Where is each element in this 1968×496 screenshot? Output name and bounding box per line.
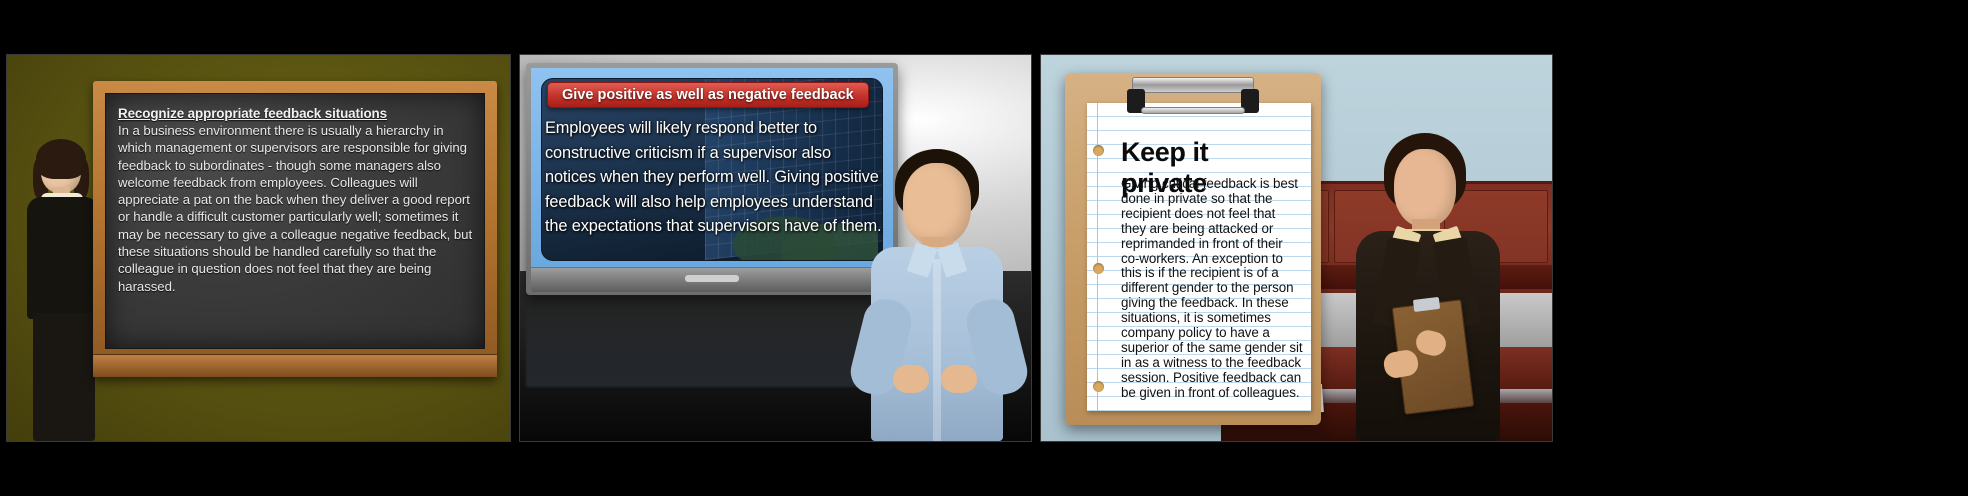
panel-clipboard-scene[interactable]: Keep it private Giving critical feedback…: [1040, 54, 1553, 442]
slide-body-text: Employees will likely respond better to …: [545, 116, 883, 239]
television-unit: Give positive as well as negative feedba…: [526, 63, 898, 295]
television-logo-bar: [685, 275, 739, 282]
chalkboard-surface: Recognize appropriate feedback situation…: [105, 93, 485, 349]
businesswoman-figure: [1340, 135, 1516, 441]
clipboard-metal-clamp-icon: [1132, 77, 1254, 93]
punch-hole-icon: [1093, 145, 1104, 156]
slide-banner: Give positive as well as negative feedba…: [547, 82, 869, 108]
teacher-hair: [36, 139, 86, 179]
floor-reflection: [526, 299, 898, 387]
chalkboard-frame: Recognize appropriate feedback situation…: [93, 81, 497, 377]
presenter-head: [903, 163, 971, 245]
presenter-figure: [849, 149, 1025, 441]
chalkboard-title: Recognize appropriate feedback situation…: [118, 106, 474, 121]
television-bezel: [531, 268, 893, 292]
presenter-hand-right: [941, 365, 977, 393]
teacher-jacket: [27, 197, 99, 319]
clipboard-body-text: Giving critical feedback is best done in…: [1121, 177, 1303, 401]
presenter-shirt-placket: [933, 259, 941, 441]
held-clipboard-clip-icon: [1413, 297, 1440, 312]
panel-chalkboard-scene[interactable]: Recognize appropriate feedback situation…: [6, 54, 511, 442]
television-screen: Give positive as well as negative feedba…: [531, 68, 893, 267]
teacher-skirt: [33, 313, 95, 441]
chalkboard-body-text: In a business environment there is usual…: [118, 122, 474, 295]
presenter-hand-left: [893, 365, 929, 393]
punch-hole-icon: [1093, 263, 1104, 274]
clipboard-overlay: Keep it private Giving critical feedback…: [1065, 73, 1321, 425]
panel-television-scene[interactable]: Give positive as well as negative feedba…: [519, 54, 1032, 442]
clipboard-clamp-bar-icon: [1141, 107, 1245, 114]
slide-banner-text: Give positive as well as negative feedba…: [562, 87, 854, 103]
punch-hole-icon: [1093, 381, 1104, 392]
paper-punch-holes: [1093, 103, 1107, 411]
clipboard-paper: Keep it private Giving critical feedback…: [1087, 103, 1311, 411]
businesswoman-head: [1394, 149, 1456, 227]
video-filmstrip: Recognize appropriate feedback situation…: [0, 0, 1968, 496]
